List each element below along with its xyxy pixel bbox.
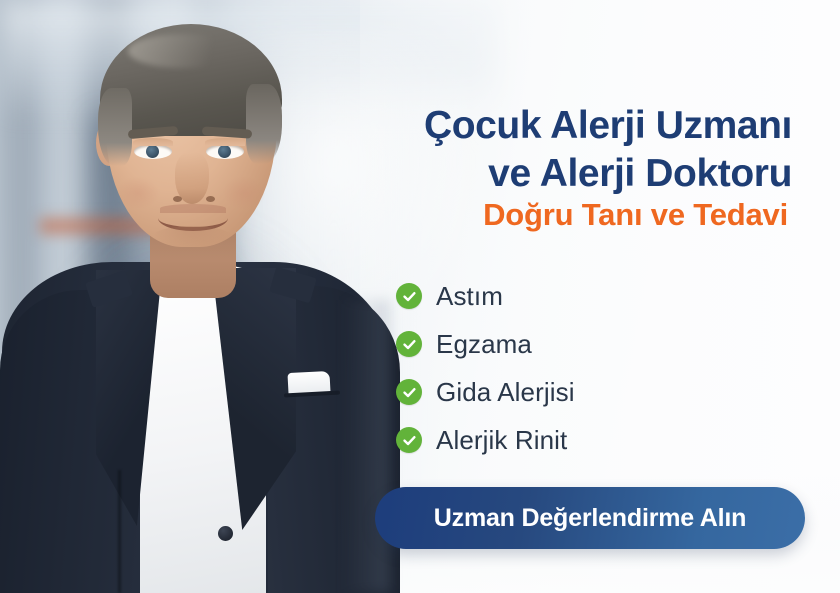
feature-label: Astım bbox=[436, 281, 503, 311]
list-item: Gida Alerjisi bbox=[396, 368, 776, 416]
nostril-right bbox=[206, 196, 215, 202]
feature-label: Egzama bbox=[436, 329, 532, 359]
list-item: Alerjik Rinit bbox=[396, 416, 776, 464]
check-circle-icon bbox=[396, 331, 422, 357]
headline-line-1: Çocuk Alerji Uzmanı bbox=[330, 102, 792, 150]
hair-highlight bbox=[128, 34, 238, 68]
feature-list: Astım Egzama Gida Alerjisi Alerjik Rinit bbox=[396, 272, 776, 464]
eye-right bbox=[206, 144, 244, 159]
iris-left bbox=[146, 145, 159, 158]
headline-line-2: ve Alerji Doktoru bbox=[330, 150, 792, 198]
cta-button[interactable]: Uzman Değerlendirme Alın bbox=[375, 487, 805, 549]
eyelid-left bbox=[133, 138, 173, 146]
allergy-doctor-banner: Çocuk Alerji Uzmanı ve Alerji Doktoru Do… bbox=[0, 0, 840, 593]
feature-label: Alerjik Rinit bbox=[436, 425, 567, 455]
nostril-left bbox=[173, 196, 182, 202]
jacket-seam bbox=[118, 470, 121, 593]
chin-shadow bbox=[152, 226, 232, 248]
subheadline: Doğru Tanı ve Tedavi bbox=[330, 196, 788, 234]
list-item: Astım bbox=[396, 272, 776, 320]
check-circle-icon bbox=[396, 283, 422, 309]
hair-temple-right bbox=[246, 84, 282, 164]
jacket-button bbox=[218, 526, 233, 541]
headline: Çocuk Alerji Uzmanı ve Alerji Doktoru bbox=[330, 102, 792, 198]
check-circle-icon bbox=[396, 379, 422, 405]
hair-temple-left bbox=[98, 88, 132, 166]
eyelid-right bbox=[205, 138, 245, 146]
eye-left bbox=[134, 144, 172, 159]
list-item: Egzama bbox=[396, 320, 776, 368]
feature-label: Gida Alerjisi bbox=[436, 377, 575, 407]
content-column: Çocuk Alerji Uzmanı ve Alerji Doktoru Do… bbox=[330, 0, 840, 593]
iris-right bbox=[218, 145, 231, 158]
cheek-right bbox=[222, 176, 266, 210]
check-circle-icon bbox=[396, 427, 422, 453]
cheek-left bbox=[116, 176, 160, 210]
